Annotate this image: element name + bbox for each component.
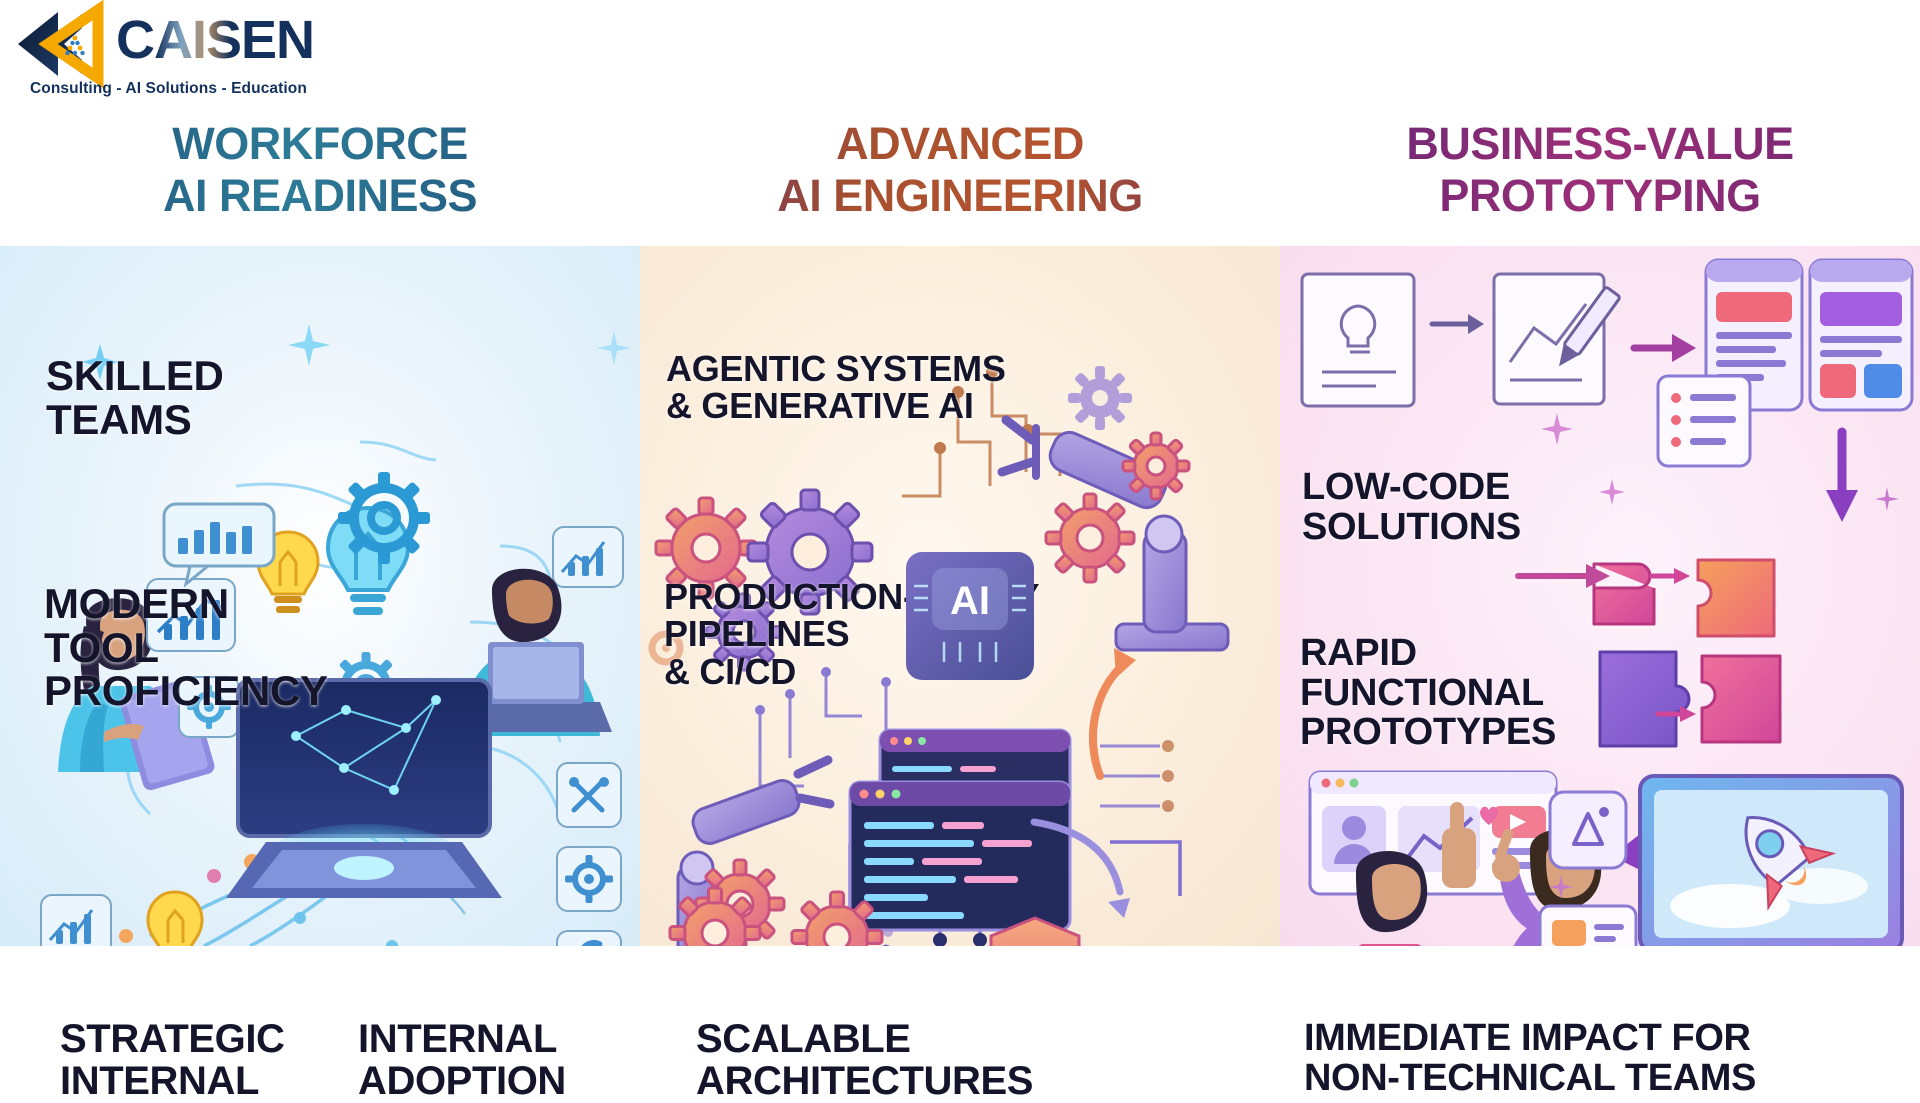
footer-scalable-architectures: SCALABLE ARCHITECTURES bbox=[696, 1018, 1033, 1103]
overlay-skilled-teams: SKILLED TEAMS bbox=[46, 354, 224, 441]
column1-title: WORKFORCE AI READINESS bbox=[0, 118, 640, 222]
chat-chart-bubble bbox=[160, 500, 280, 590]
column3-illustration: LOW-CODE SOLUTIONS RAPID FUNCTIONAL PROT… bbox=[1280, 246, 1920, 946]
section-workforce-ai-readiness: WORKFORCE AI READINESS bbox=[0, 118, 640, 1080]
column2-title-line2: AI ENGINEERING bbox=[640, 170, 1280, 222]
overlay-modern-tool-proficiency: MODERN TOOL PROFICIENCY bbox=[44, 582, 328, 713]
overlay-low-code-solutions: LOW-CODE SOLUTIONS bbox=[1302, 468, 1521, 547]
shield-lock-icon bbox=[980, 912, 1090, 946]
column1-illustration: SKILLED TEAMS MODERN TOOL PROFICIENCY bbox=[0, 246, 640, 946]
column2-title: ADVANCED AI ENGINEERING bbox=[640, 118, 1280, 222]
footer-immediate-impact: IMMEDIATE IMPACT FOR NON-TECHNICAL TEAMS bbox=[1304, 1018, 1756, 1099]
document-sketch bbox=[1294, 266, 1424, 416]
caisen-arrow-logo-icon bbox=[14, 8, 110, 80]
column3-title: BUSINESS-VALUE PROTOTYPING bbox=[1280, 118, 1920, 222]
footer-internal-adoption: INTERNAL ADOPTION bbox=[358, 1018, 566, 1103]
analytics-card bbox=[40, 894, 112, 946]
footer-strategic-internal: STRATEGIC INTERNAL bbox=[60, 1018, 285, 1103]
ai-chip-label: AI bbox=[950, 579, 990, 623]
chart-document-with-pencil bbox=[1486, 266, 1636, 416]
arrow-right-icon bbox=[1630, 324, 1700, 372]
heart-icon bbox=[1476, 802, 1502, 828]
sparkle-icon bbox=[1548, 874, 1574, 900]
shield-check-icon bbox=[836, 940, 936, 946]
rocket-monitor bbox=[1630, 766, 1920, 946]
checklist-card bbox=[1652, 370, 1762, 480]
gear-icon bbox=[782, 882, 892, 946]
tools-card bbox=[556, 762, 622, 828]
gear-icon bbox=[660, 878, 770, 946]
column2-illustration: AI AI bbox=[640, 246, 1280, 946]
sparkle-icon bbox=[1874, 486, 1900, 512]
sparkle-icon bbox=[1598, 478, 1626, 506]
brand-wordmark: CAISEN bbox=[116, 10, 314, 70]
gear-card bbox=[556, 846, 622, 912]
column2-title-line1: ADVANCED bbox=[640, 118, 1280, 170]
arrow-down-icon bbox=[1808, 424, 1878, 534]
column1-title-line2: AI READINESS bbox=[0, 170, 640, 222]
column3-title-line2: PROTOTYPING bbox=[1280, 170, 1920, 222]
section-advanced-ai-engineering: ADVANCED AI ENGINEERING bbox=[640, 118, 1280, 1080]
overlay-rapid-functional-prototypes: RAPID FUNCTIONAL PROTOTYPES bbox=[1300, 634, 1556, 753]
overlay-agentic-systems: AGENTIC SYSTEMS & GENERATIVE AI bbox=[666, 350, 1006, 425]
column3-title-line1: BUSINESS-VALUE bbox=[1280, 118, 1920, 170]
sparkle-icon bbox=[596, 330, 632, 366]
sparkle-icon bbox=[286, 322, 332, 368]
brand-logo: CAISEN Consulting - AI Solutions - Educa… bbox=[14, 6, 374, 102]
section-business-value-prototyping: BUSINESS-VALUE PROTOTYPING bbox=[1280, 118, 1920, 1080]
lightbulb-icon bbox=[140, 886, 210, 946]
column1-title-line1: WORKFORCE bbox=[0, 118, 640, 170]
ai-chip: AI AI bbox=[900, 546, 1040, 686]
arrow-right-icon bbox=[1428, 304, 1488, 344]
robot-laptop-hologram bbox=[226, 746, 506, 946]
arrow-curve-icon bbox=[1028, 806, 1138, 926]
gear-icon bbox=[336, 470, 432, 566]
card-list bbox=[1534, 900, 1644, 946]
sparkle-icon bbox=[1540, 412, 1574, 446]
arrow-up-icon bbox=[1070, 636, 1160, 786]
brand-tagline: Consulting - AI Solutions - Education bbox=[30, 80, 307, 98]
arrow-right-icon bbox=[1512, 546, 1632, 606]
puzzle-pieces bbox=[1586, 536, 1916, 766]
person-at-laptop bbox=[400, 942, 640, 946]
